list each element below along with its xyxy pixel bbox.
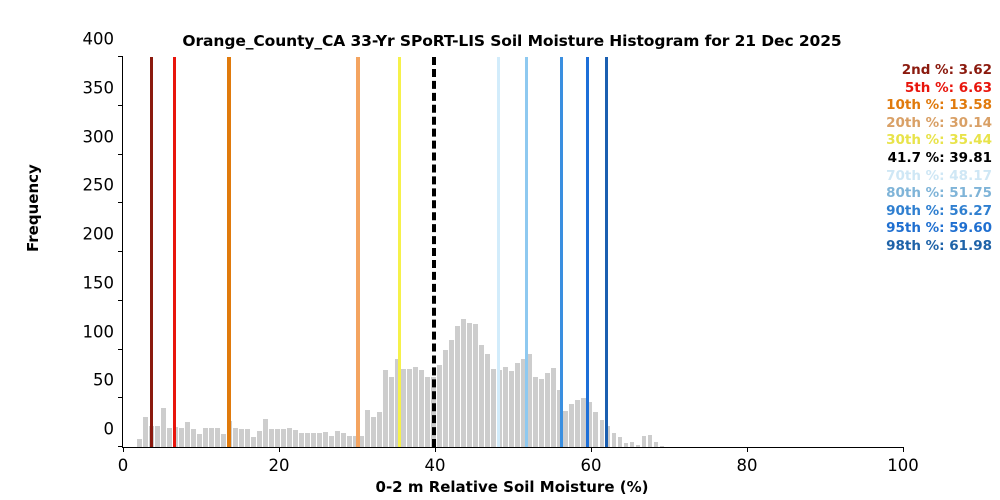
y-axis-tick-label: 300 [83, 127, 115, 146]
histogram-bar [401, 369, 406, 447]
histogram-bar [600, 420, 605, 447]
percentile-line [173, 57, 176, 447]
x-axis-tick [435, 447, 436, 452]
x-axis-tick-label: 0 [118, 456, 129, 475]
histogram-bar [449, 340, 454, 447]
y-axis-tick [118, 300, 123, 301]
percentile-line [586, 57, 589, 447]
x-axis-tick [279, 447, 280, 452]
percentile-line [398, 57, 401, 447]
percentile-line [605, 57, 608, 447]
histogram-bar [257, 431, 262, 447]
y-axis-tick-label: 350 [83, 78, 115, 97]
histogram-bar [269, 429, 274, 447]
histogram-bar [311, 433, 316, 447]
histogram-bar [551, 368, 556, 447]
histogram-bar [293, 430, 298, 447]
histogram-bar [185, 422, 190, 447]
histogram-bar [377, 412, 382, 447]
histogram-bar [383, 370, 388, 447]
histogram-bar [209, 428, 214, 448]
histogram-bar [479, 345, 484, 447]
percentile-line [497, 57, 500, 447]
plot-area: 050100150200250300350400020406080100 [122, 57, 903, 448]
y-axis-tick [118, 154, 123, 155]
histogram-bar [221, 434, 226, 447]
x-axis-tick-label: 80 [737, 456, 758, 475]
legend-entry: 70th %: 48.17 [886, 168, 992, 186]
y-axis-tick-label: 200 [83, 225, 115, 244]
histogram-bar [503, 367, 508, 447]
histogram-figure: Orange_County_CA 33-Yr SPoRT-LIS Soil Mo… [0, 0, 1000, 500]
histogram-bar [612, 433, 617, 447]
histogram-bar [359, 436, 364, 447]
legend-entry: 30th %: 35.44 [886, 132, 992, 150]
legend-entry: 98th %: 61.98 [886, 238, 992, 256]
histogram-bar [569, 404, 574, 447]
x-axis-tick-label: 100 [887, 456, 919, 475]
histogram-bar [515, 363, 520, 447]
histogram-bar [179, 428, 184, 447]
histogram-bar [389, 377, 394, 447]
histogram-bar [365, 410, 370, 447]
histogram-bar [335, 431, 340, 447]
histogram-bar [203, 428, 208, 448]
histogram-bar [167, 428, 172, 448]
y-axis-label: Frequency [24, 164, 42, 252]
histogram-bar [473, 324, 478, 447]
legend-entry: 20th %: 30.14 [886, 115, 992, 133]
histogram-bar [329, 436, 334, 447]
y-axis-tick-label: 400 [83, 30, 115, 49]
histogram-bar [215, 428, 220, 448]
histogram-bar [347, 436, 352, 447]
histogram-bar [287, 428, 292, 448]
histogram-bar [191, 429, 196, 447]
histogram-bar [317, 433, 322, 447]
x-axis-tick [903, 447, 904, 452]
histogram-bar [341, 433, 346, 447]
y-axis-tick-label: 50 [93, 371, 114, 390]
histogram-bar [419, 370, 424, 447]
histogram-bar [509, 371, 514, 447]
percentile-line [525, 57, 528, 447]
histogram-bar [636, 445, 641, 447]
histogram-bar [299, 433, 304, 447]
histogram-bar [461, 319, 466, 447]
histogram-bar [533, 377, 538, 447]
histogram-bar [371, 417, 376, 447]
histogram-bar [648, 435, 653, 447]
y-axis-tick [118, 56, 123, 57]
histogram-bar [491, 369, 496, 447]
histogram-bar [233, 428, 238, 447]
percentile-legend: 2nd %: 3.625th %: 6.6310th %: 13.5820th … [886, 62, 992, 256]
y-axis-tick [118, 105, 123, 106]
percentile-line [432, 57, 436, 447]
histogram-bar [455, 326, 460, 447]
percentile-line [150, 57, 153, 447]
histogram-bar [413, 367, 418, 447]
y-axis-tick-label: 0 [104, 420, 115, 439]
page-title: Orange_County_CA 33-Yr SPoRT-LIS Soil Mo… [122, 32, 902, 50]
histogram-bar [143, 417, 148, 447]
histogram-bar [618, 437, 623, 447]
x-axis-tick [591, 447, 592, 452]
histogram-bar [642, 436, 647, 447]
histogram-bar [630, 442, 635, 447]
histogram-bar [275, 429, 280, 447]
legend-entry: 5th %: 6.63 [886, 80, 992, 98]
x-axis-tick [747, 447, 748, 452]
histogram-bar [575, 400, 580, 447]
legend-entry: 2nd %: 3.62 [886, 62, 992, 80]
histogram-bar [660, 446, 665, 447]
histogram-bar [263, 419, 268, 447]
plot-inner [123, 57, 903, 447]
histogram-bar [305, 433, 310, 447]
legend-entry: 90th %: 56.27 [886, 203, 992, 221]
histogram-bar [197, 434, 202, 447]
histogram-bar [624, 443, 629, 447]
y-axis-tick [118, 397, 123, 398]
histogram-bar [654, 442, 659, 447]
x-axis-tick-label: 60 [581, 456, 602, 475]
y-axis-tick [118, 251, 123, 252]
histogram-bar [563, 411, 568, 447]
percentile-line [356, 57, 359, 447]
x-axis-tick-label: 20 [269, 456, 290, 475]
histogram-bar [443, 350, 448, 448]
x-axis-tick [123, 447, 124, 452]
histogram-bar [407, 369, 412, 447]
legend-entry: 95th %: 59.60 [886, 220, 992, 238]
histogram-bar [245, 429, 250, 447]
histogram-bar [437, 365, 442, 447]
histogram-bar [323, 432, 328, 447]
histogram-bar [251, 437, 256, 447]
y-axis-tick [118, 349, 123, 350]
y-axis-tick-label: 150 [83, 273, 115, 292]
percentile-line [560, 57, 563, 447]
y-axis-tick-label: 250 [83, 176, 115, 195]
y-axis-tick-label: 100 [83, 322, 115, 341]
histogram-bar [161, 408, 166, 447]
histogram-bar [539, 379, 544, 447]
histogram-bar [281, 429, 286, 447]
x-axis-tick-label: 40 [425, 456, 446, 475]
legend-entry: 10th %: 13.58 [886, 97, 992, 115]
histogram-bar [545, 373, 550, 447]
histogram-bar [593, 412, 598, 447]
histogram-bar [155, 426, 160, 447]
legend-entry: 80th %: 51.75 [886, 185, 992, 203]
legend-entry: 41.7 %: 39.81 [886, 150, 992, 168]
x-axis-label: 0-2 m Relative Soil Moisture (%) [122, 478, 902, 496]
histogram-bar [467, 323, 472, 447]
histogram-bar [239, 429, 244, 447]
percentile-line [227, 57, 230, 447]
histogram-bar [485, 354, 490, 447]
y-axis-tick [118, 202, 123, 203]
histogram-bar [137, 439, 142, 447]
histogram-bar [425, 377, 430, 447]
